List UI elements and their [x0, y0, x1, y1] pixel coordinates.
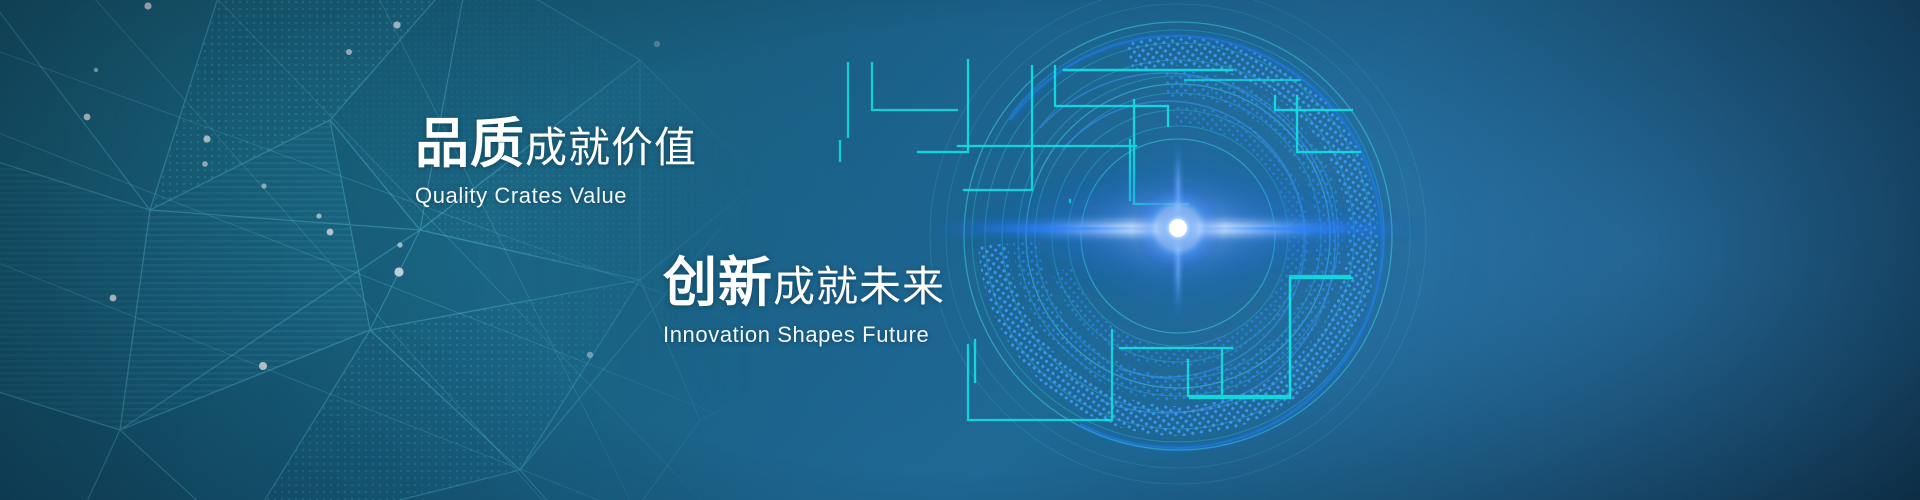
headline-quality-cn-light: 成就价值 [525, 124, 697, 171]
hero-banner: 品质成就价值 Quality Crates Value 创新成就未来 Innov… [0, 0, 1920, 500]
subtitle-quality-en: Quality Crates Value [415, 183, 697, 209]
lens-flare-star [0, 0, 1920, 500]
headline-innovation-cn-light: 成就未来 [773, 263, 945, 310]
message-innovation: 创新成就未来 Innovation Shapes Future [663, 256, 945, 348]
headline-innovation-cn: 创新成就未来 [663, 256, 945, 310]
headline-quality-cn: 品质成就价值 [415, 117, 697, 171]
subtitle-innovation-en: Innovation Shapes Future [663, 322, 945, 348]
message-quality: 品质成就价值 Quality Crates Value [415, 117, 697, 209]
headline-innovation-cn-strong: 创新 [663, 253, 773, 313]
headline-quality-cn-strong: 品质 [415, 114, 525, 174]
